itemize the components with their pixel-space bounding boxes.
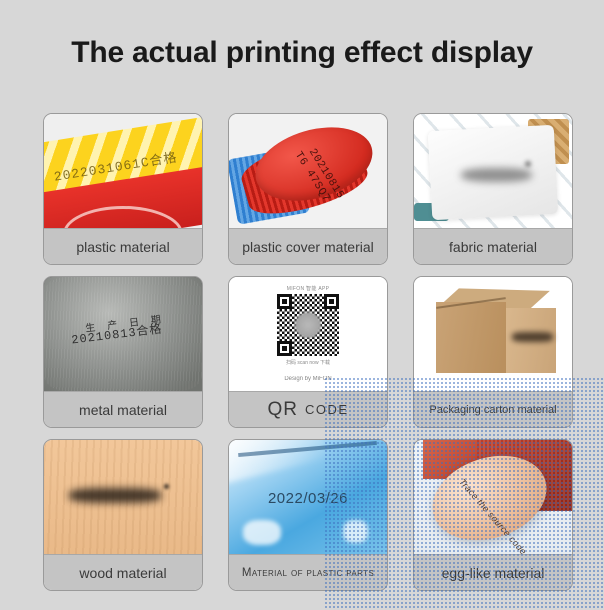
printed-date-text: 2022/03/26 (229, 490, 387, 507)
thumbnail-metal-material: 生 产 日 期 20210813合格 (44, 277, 202, 391)
material-showcase-grid: 2022031061C合格 plastic material 20210815 … (43, 113, 561, 591)
qr-finder-top-left (277, 294, 292, 309)
qr-bottom-label: 扫码 scan now 下载 (286, 359, 330, 366)
card-caption-packaging-carton-material: Packaging carton material (414, 391, 572, 427)
card-fabric-material[interactable]: fabric material (413, 113, 573, 265)
card-egg-like-material[interactable]: Trace the source code egg-like material (413, 439, 573, 591)
card-caption-plastic-cover-material: plastic cover material (229, 228, 387, 264)
card-metal-material[interactable]: 生 产 日 期 20210813合格 metal material (43, 276, 203, 428)
blurred-print-mark (461, 168, 532, 183)
blurred-print-mark (512, 332, 553, 342)
card-caption-fabric-material: fabric material (414, 228, 572, 264)
card-caption-plastic-material: plastic material (44, 228, 202, 264)
card-packaging-carton-material[interactable]: Packaging carton material (413, 276, 573, 428)
card-caption-metal-material: metal material (44, 391, 202, 427)
card-wood-material[interactable]: wood material (43, 439, 203, 591)
thumbnail-qr-code: MIFON 智能 APP 扫码 scan now 下载 Design by Mi… (229, 277, 387, 391)
blurred-print-mark (69, 488, 161, 503)
card-qr-code[interactable]: MIFON 智能 APP 扫码 scan now 下载 Design by Mi… (228, 276, 388, 428)
thumbnail-fabric-material (414, 114, 572, 228)
thumbnail-plastic-material: 2022031061C合格 (44, 114, 202, 228)
card-caption-egg-like-material: egg-like material (414, 554, 572, 590)
qr-caption-main: QR (267, 399, 298, 421)
page-title: The actual printing effect display (0, 36, 604, 70)
card-plastic-cover-material[interactable]: 20210815 T6 47SQ7 plastic cover material (228, 113, 388, 265)
blurred-print-dot (525, 161, 531, 167)
thumbnail-plastic-cover-material: 20210815 T6 47SQ7 (229, 114, 387, 228)
card-caption-wood-material: wood material (44, 554, 202, 590)
qr-finder-top-right (324, 294, 339, 309)
carton-front-face (436, 302, 506, 373)
qr-caption-sub: CODE (305, 402, 349, 417)
thumbnail-egg-like-material: Trace the source code (414, 440, 572, 554)
thumbnail-packaging-carton-material (414, 277, 572, 391)
card-plastic-material[interactable]: 2022031061C合格 plastic material (43, 113, 203, 265)
blurred-print-dot (164, 484, 169, 489)
card-caption-material-of-plastic-parts: Material of plastic parts (229, 554, 387, 590)
glare-spot-left (243, 520, 281, 545)
card-caption-qr-code: QR CODE (229, 391, 387, 427)
qr-code-icon (277, 294, 339, 356)
thumbnail-wood-material (44, 440, 202, 554)
qr-finder-bottom-left (277, 341, 292, 356)
thumbnail-material-of-plastic-parts: 2022/03/26 (229, 440, 387, 554)
glare-spot-right (343, 520, 368, 543)
qr-design-credit: Design by MiFON (284, 376, 331, 382)
card-material-of-plastic-parts[interactable]: 2022/03/26 Material of plastic parts (228, 439, 388, 591)
qr-top-label: MIFON 智能 APP (287, 285, 330, 292)
